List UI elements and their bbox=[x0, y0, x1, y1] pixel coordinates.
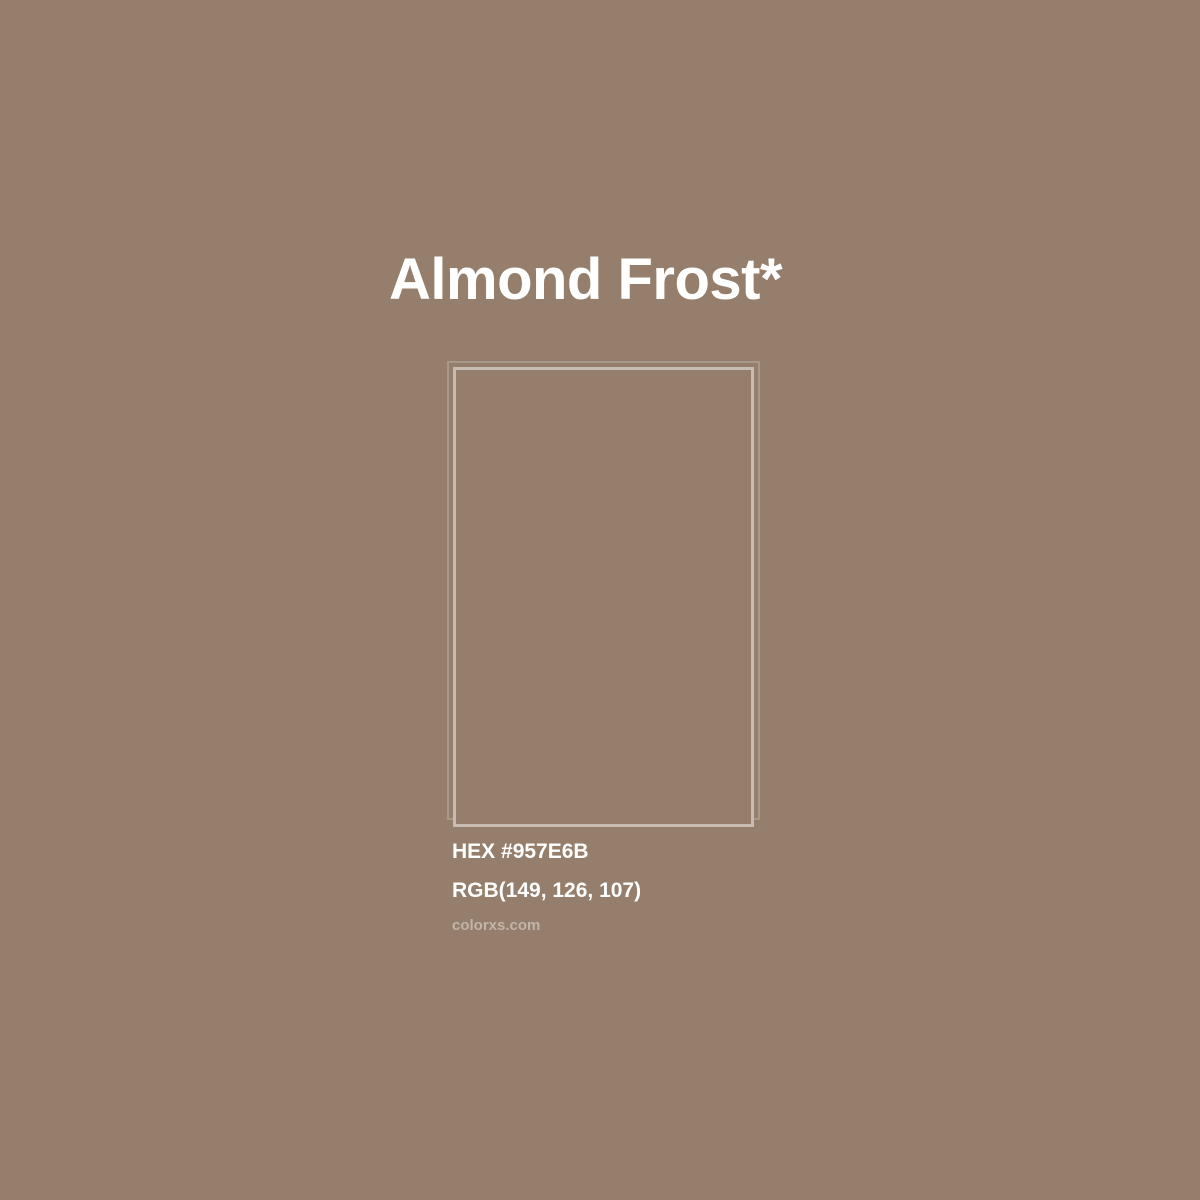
hex-value: HEX #957E6B bbox=[452, 832, 952, 871]
color-swatch bbox=[447, 361, 761, 827]
color-page: Almond Frost* HEX #957E6B RGB(149, 126, … bbox=[0, 0, 1200, 1200]
swatch-inner-frame bbox=[453, 367, 754, 827]
page-title: Almond Frost* bbox=[389, 245, 782, 315]
site-credit: colorxs.com bbox=[452, 910, 952, 936]
color-values: HEX #957E6B RGB(149, 126, 107) colorxs.c… bbox=[452, 832, 952, 936]
rgb-value: RGB(149, 126, 107) bbox=[452, 871, 952, 910]
